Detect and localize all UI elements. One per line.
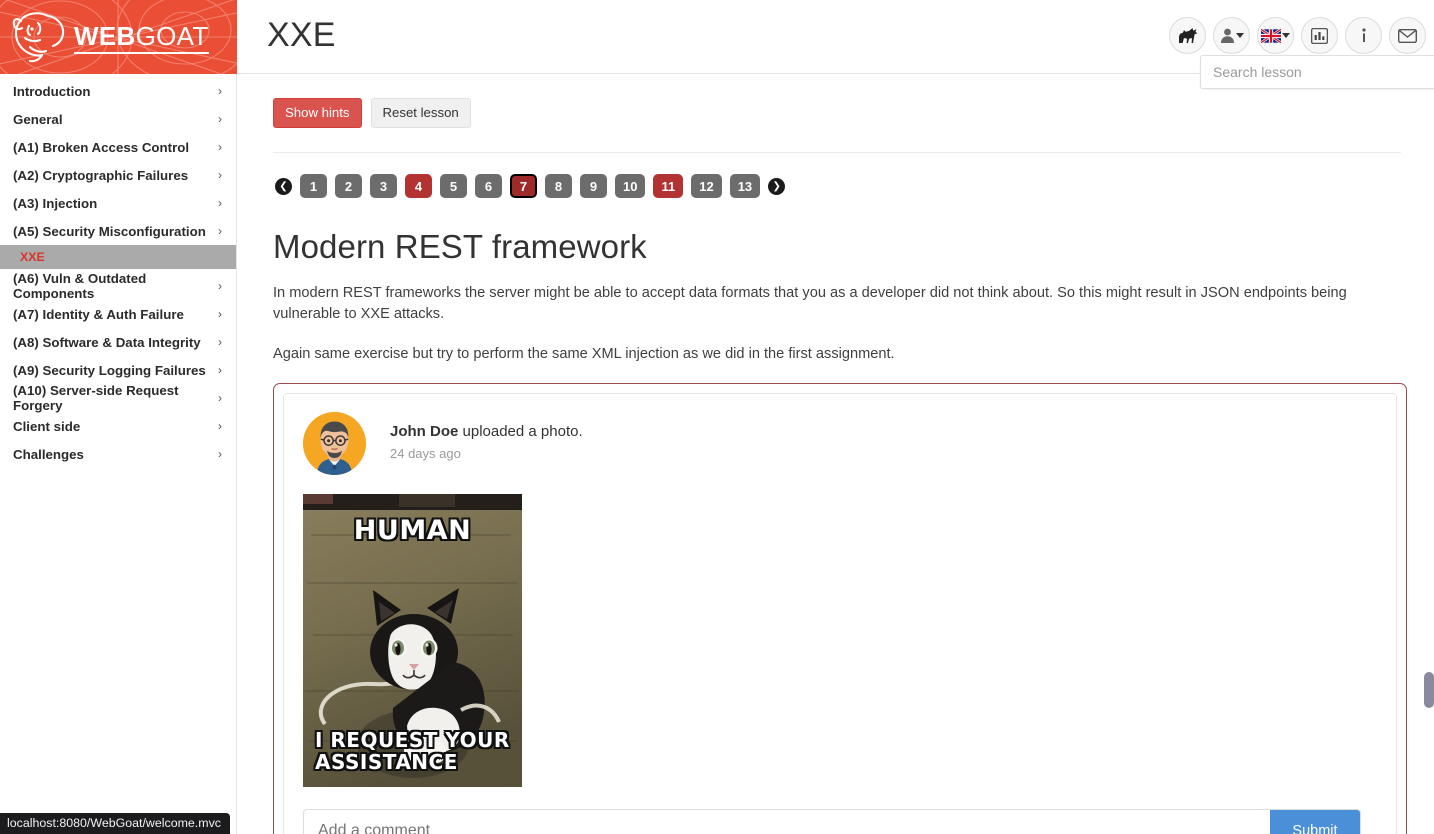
chevron-down-icon: [1236, 33, 1244, 38]
post-header: John Doe uploaded a photo. 24 days ago: [303, 412, 1377, 475]
chevron-right-icon: ›: [218, 84, 222, 98]
sidebar-item-a7-identity-auth-failure[interactable]: (A7) Identity & Auth Failure›: [0, 300, 236, 328]
comment-input[interactable]: [304, 810, 1270, 834]
union-jack-icon: [1261, 29, 1281, 43]
lesson-paragraph-2: Again same exercise but try to perform t…: [273, 344, 1401, 365]
brand-logo[interactable]: WEBGOAT: [0, 0, 237, 74]
mail-glyph-icon: [1398, 29, 1417, 43]
pagination-page-8[interactable]: 8: [545, 174, 572, 198]
status-url-text: localhost:8080/WebGoat/welcome.mvc: [7, 816, 221, 830]
chevron-right-icon: ›: [218, 196, 222, 210]
meme-bottom-line-1: I REQUEST YOUR: [315, 730, 510, 752]
sidebar-item-label: XXE: [20, 250, 45, 264]
lesson-action-buttons: Show hints Reset lesson: [273, 98, 1401, 128]
sidebar-item-introduction[interactable]: Introduction›: [0, 77, 236, 105]
chevron-right-icon: ›: [218, 307, 222, 321]
sidebar-item-a1-broken-access-control[interactable]: (A1) Broken Access Control›: [0, 133, 236, 161]
post-meta: John Doe uploaded a photo. 24 days ago: [390, 412, 583, 461]
post-author-line: John Doe uploaded a photo.: [390, 423, 583, 440]
brand-goat: GOAT: [136, 21, 209, 51]
chevron-right-icon: ›: [218, 447, 222, 461]
webgoat-mascot-icon[interactable]: [1169, 17, 1206, 54]
lesson-heading: Modern REST framework: [273, 228, 1401, 266]
scrollbar-thumb[interactable]: [1424, 672, 1434, 708]
sidebar-item-label: Challenges: [13, 447, 84, 462]
post-author-name: John Doe: [390, 423, 458, 440]
chevron-right-icon: ›: [218, 391, 222, 405]
sidebar-item-label: (A2) Cryptographic Failures: [13, 168, 188, 183]
chevron-right-icon: ›: [218, 224, 222, 238]
sidebar-item-label: (A5) Security Misconfiguration: [13, 224, 206, 239]
pagination-page-7[interactable]: 7: [510, 174, 537, 198]
user-icon[interactable]: [1213, 17, 1250, 54]
chevron-right-icon: ›: [218, 419, 222, 433]
chevron-right-icon: ›: [218, 168, 222, 182]
sidebar: WEBGOAT Introduction›General›(A1) Broken…: [0, 0, 237, 834]
pagination-page-1[interactable]: 1: [300, 174, 327, 198]
avatar: [303, 412, 366, 475]
pagination-page-2[interactable]: 2: [335, 174, 362, 198]
lesson-content: Show hints Reset lesson ❮ 12345678910111…: [237, 74, 1434, 834]
pagination-page-5[interactable]: 5: [440, 174, 467, 198]
pagination-page-10[interactable]: 10: [615, 174, 645, 198]
pagination-page-9[interactable]: 9: [580, 174, 607, 198]
top-header: XXE: [237, 0, 1434, 74]
chevron-down-icon: [1282, 33, 1290, 38]
chevron-right-icon: ›: [218, 363, 222, 377]
meme-top-text: HUMAN: [303, 516, 522, 545]
post-image-meme: HUMAN I REQUEST YOUR ASSISTANCE: [303, 494, 522, 787]
pagination-page-12[interactable]: 12: [691, 174, 721, 198]
submit-button[interactable]: Submit: [1270, 810, 1360, 834]
pagination-page-13[interactable]: 13: [730, 174, 760, 198]
social-post-card: John Doe uploaded a photo. 24 days ago: [283, 393, 1397, 834]
status-bar-url: localhost:8080/WebGoat/welcome.mvc: [0, 813, 230, 834]
section-divider: [273, 152, 1401, 153]
brand-wordmark: WEBGOAT: [74, 21, 209, 54]
sidebar-item-label: Introduction: [13, 84, 91, 99]
pagination-next-button[interactable]: ❯: [768, 178, 785, 195]
pagination-pages: 12345678910111213: [300, 174, 760, 198]
sidebar-item-a9-security-logging-failures[interactable]: (A9) Security Logging Failures›: [0, 356, 236, 384]
goat-head-icon: [8, 7, 70, 67]
sidebar-item-xxe[interactable]: XXE: [0, 245, 236, 269]
sidebar-item-label: General: [13, 112, 63, 127]
meme-bottom-text: I REQUEST YOUR ASSISTANCE: [315, 730, 510, 773]
pagination-prev-button[interactable]: ❮: [275, 178, 292, 195]
header-icon-toolbar: [1169, 17, 1426, 54]
sidebar-item-client-side[interactable]: Client side›: [0, 412, 236, 440]
sidebar-item-label: (A6) Vuln & Outdated Components: [13, 271, 218, 301]
chart-glyph-icon: [1311, 28, 1328, 44]
assignment-container: John Doe uploaded a photo. 24 days ago: [273, 383, 1407, 834]
sidebar-nav-secondary: (A6) Vuln & Outdated Components›(A7) Ide…: [0, 269, 236, 468]
meme-bottom-line-2: ASSISTANCE: [315, 752, 510, 774]
sidebar-item-label: (A1) Broken Access Control: [13, 140, 189, 155]
pagination-page-11[interactable]: 11: [653, 174, 683, 198]
chevron-right-icon: ›: [218, 335, 222, 349]
show-hints-button[interactable]: Show hints: [273, 98, 362, 128]
pagination-page-4[interactable]: 4: [405, 174, 432, 198]
sidebar-item-label: (A10) Server-side Request Forgery: [13, 383, 218, 413]
sidebar-item-label: (A8) Software & Data Integrity: [13, 335, 201, 350]
sidebar-item-label: Client side: [13, 419, 80, 434]
sidebar-item-a8-software-data-integrity[interactable]: (A8) Software & Data Integrity›: [0, 328, 236, 356]
sidebar-item-challenges[interactable]: Challenges›: [0, 440, 236, 468]
pagination-page-3[interactable]: 3: [370, 174, 397, 198]
sidebar-nav-primary: Introduction›General›(A1) Broken Access …: [0, 74, 236, 245]
letter-i-icon: [1361, 28, 1367, 44]
sidebar-item-label: (A7) Identity & Auth Failure: [13, 307, 184, 322]
sidebar-item-general[interactable]: General›: [0, 105, 236, 133]
page-title: XXE: [267, 16, 336, 55]
lesson-pagination: ❮ 12345678910111213 ❯: [273, 174, 1401, 198]
post-timestamp: 24 days ago: [390, 446, 583, 461]
brand-web: WEB: [74, 21, 136, 51]
post-action-text: uploaded a photo.: [458, 423, 582, 440]
search-input[interactable]: Search lesson: [1200, 55, 1434, 89]
sidebar-item-label: (A3) Injection: [13, 196, 97, 211]
wolf-silhouette-icon: [1177, 27, 1199, 44]
sidebar-item-a3-injection[interactable]: (A3) Injection›: [0, 189, 236, 217]
envelope-icon[interactable]: [1389, 17, 1426, 54]
flag-uk-icon[interactable]: [1257, 17, 1294, 54]
pagination-page-6[interactable]: 6: [475, 174, 502, 198]
chevron-right-icon: ›: [218, 112, 222, 126]
reset-lesson-button[interactable]: Reset lesson: [371, 98, 471, 128]
chevron-right-icon: ›: [218, 279, 222, 293]
chevron-right-icon: ›: [218, 140, 222, 154]
lesson-paragraph-1: In modern REST frameworks the server mig…: [273, 283, 1401, 324]
sidebar-item-label: (A9) Security Logging Failures: [13, 363, 206, 378]
person-glyph-icon: [1220, 28, 1235, 43]
comment-bar: Submit: [303, 809, 1361, 834]
main-area: XXE: [237, 0, 1434, 834]
avatar-illustration-icon: [303, 412, 366, 475]
bar-chart-icon[interactable]: [1301, 17, 1338, 54]
info-icon[interactable]: [1345, 17, 1382, 54]
sidebar-item-a10-server-side-request-forgery[interactable]: (A10) Server-side Request Forgery›: [0, 384, 236, 412]
sidebar-item-a5-security-misconfiguration[interactable]: (A5) Security Misconfiguration›: [0, 217, 236, 245]
sidebar-item-a2-cryptographic-failures[interactable]: (A2) Cryptographic Failures›: [0, 161, 236, 189]
sidebar-item-a6-vuln-outdated-components[interactable]: (A6) Vuln & Outdated Components›: [0, 272, 236, 300]
